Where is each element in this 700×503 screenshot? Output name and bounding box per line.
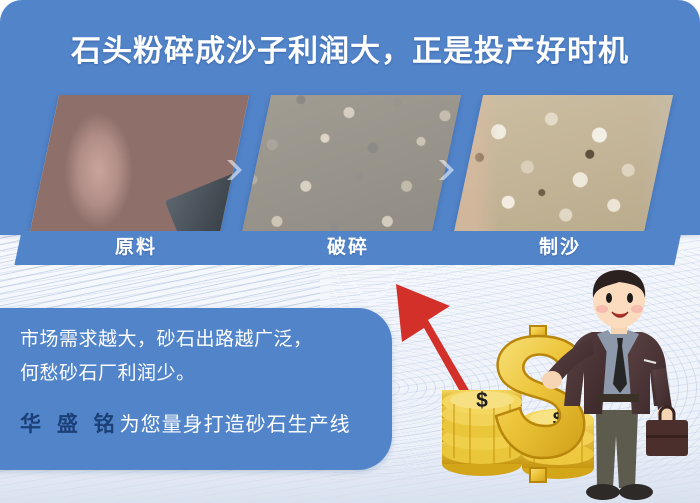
message-line-2: 何愁砂石厂利润少。 [20,358,196,385]
step-label-raw: 原料 [14,231,257,265]
step-label-sand: 制沙 [438,231,681,265]
header-banner: 石头粉碎成沙子利润大，正是投产好时机 原料 [0,0,700,235]
brand-name: 华 盛 铭 [20,413,120,436]
chevron-right-icon [222,157,248,183]
process-step-crush[interactable]: 破碎 [248,95,458,270]
process-step-sand[interactable]: 制沙 [460,95,670,270]
message-card: 市场需求越大，砂石出路越广泛， 何愁砂石厂利润少。 华 盛 铭为您量身打造砂石生… [0,308,392,470]
page-title: 石头粉碎成沙子利润大，正是投产好时机 [0,26,700,70]
crushed-gravel-photo [241,95,461,237]
poster-canvas: 石头粉碎成沙子利润大，正是投产好时机 原料 [0,0,700,503]
chevron-right-icon-2 [434,157,460,183]
step-label-text: 原料 [18,231,254,265]
step-label-text: 破碎 [230,231,466,265]
step-label-text: 制沙 [442,231,678,265]
process-steps: 原料 破碎 [0,95,700,270]
finished-sand-photo [453,95,673,237]
process-step-raw[interactable]: 原料 [36,95,246,270]
raw-stones-photo [29,95,249,237]
message-line-1: 市场需求越大，砂石出路越广泛， [20,324,313,351]
svg-text:$: $ [476,389,488,412]
money-and-businessman-illustration: $ $ [440,268,700,503]
step-label-crush: 破碎 [226,231,469,265]
brand-row: 华 盛 铭为您量身打造砂石生产线 [20,408,351,438]
brand-slogan: 为您量身打造砂石生产线 [120,414,351,436]
